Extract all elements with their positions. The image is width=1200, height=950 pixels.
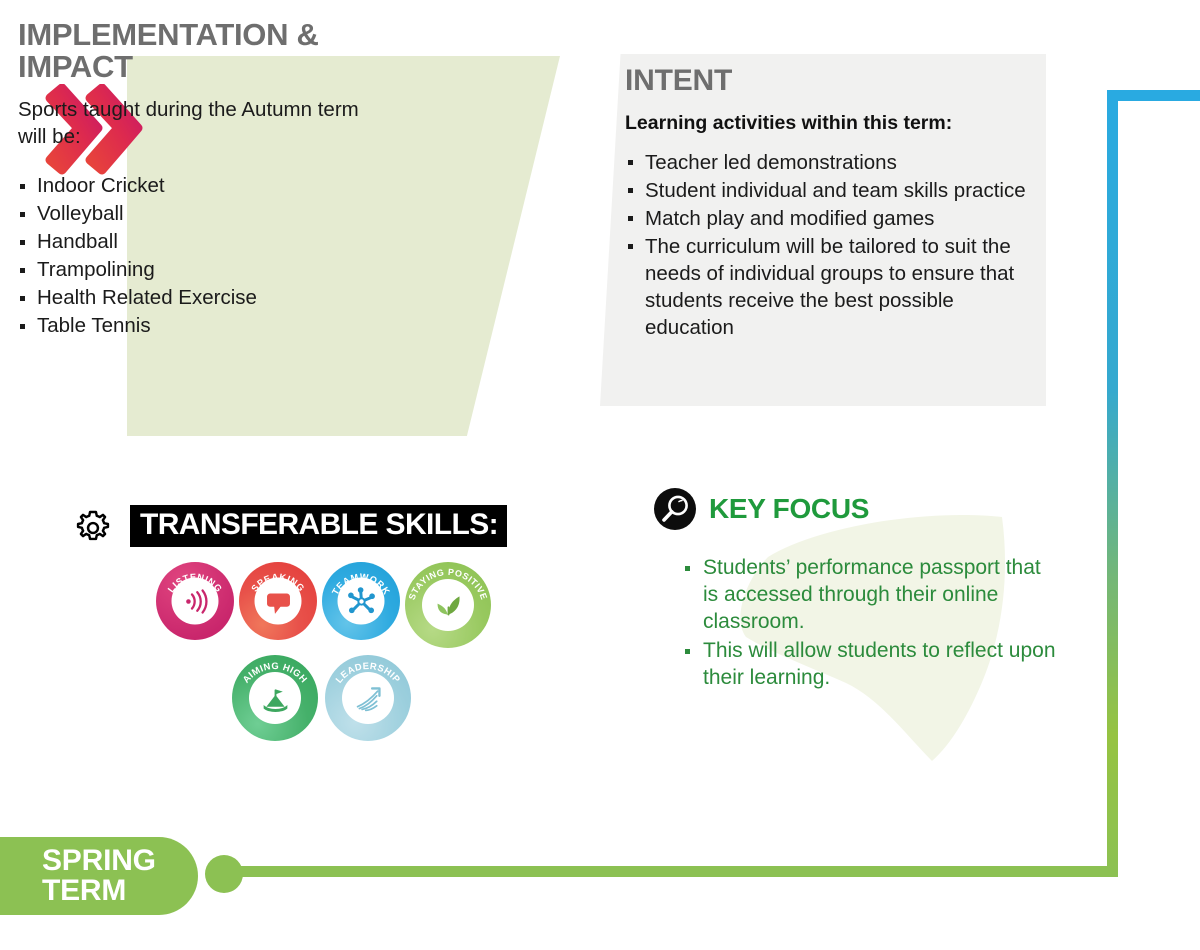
- top-horizontal-line: [1107, 90, 1200, 101]
- list-item: Teacher led demonstrations: [625, 149, 1035, 176]
- list-item: Students’ performance passport that is a…: [682, 555, 1057, 636]
- arrow-burst-icon: [342, 672, 394, 724]
- list-item: Trampolining: [18, 256, 368, 284]
- key-focus-list: Students’ performance passport that is a…: [682, 555, 1057, 693]
- intent-content: INTENT Learning activities within this t…: [625, 64, 1035, 342]
- implementation-sports-list: Indoor Cricket Volleyball Handball Tramp…: [18, 172, 368, 339]
- term-label: SPRING TERM: [0, 846, 156, 906]
- list-item: Indoor Cricket: [18, 172, 368, 200]
- list-item: Volleyball: [18, 200, 368, 228]
- list-item: This will allow students to reflect upon…: [682, 638, 1057, 692]
- skill-badges: LISTENING: [156, 562, 556, 741]
- transferable-skills-header: TRANSFERABLE SKILLS:: [74, 505, 544, 551]
- magnifier-icon: [653, 487, 697, 531]
- intent-title: INTENT: [625, 64, 1035, 98]
- badge-aiming-high[interactable]: AIMING HIGH: [232, 655, 318, 741]
- term-line-2: TERM: [42, 876, 156, 906]
- leaf-sprout-icon: [422, 579, 474, 631]
- list-item: Handball: [18, 228, 368, 256]
- transferable-skills-section: TRANSFERABLE SKILLS: LISTENING: [74, 505, 544, 551]
- gear-icon: [74, 509, 112, 547]
- term-connector-dot: [205, 855, 243, 893]
- term-line-1: SPRING: [42, 844, 156, 877]
- intent-subtitle: Learning activities within this term:: [625, 112, 1035, 135]
- list-item: Match play and modified games: [625, 205, 1035, 232]
- speech-bubble-icon: [255, 578, 302, 625]
- key-focus-header: KEY FOCUS: [653, 487, 869, 531]
- badge-teamwork[interactable]: TEAMWORK: [322, 562, 400, 640]
- list-item: Health Related Exercise: [18, 284, 368, 312]
- bottom-horizontal-line: [222, 866, 1118, 877]
- key-focus-section: KEY FOCUS Students’ performance passport…: [650, 487, 1070, 777]
- implementation-content: IMPLEMENTATION & IMPACT Sports taught du…: [18, 19, 368, 340]
- list-item: Table Tennis: [18, 312, 368, 340]
- list-item: Student individual and team skills pract…: [625, 177, 1035, 204]
- badge-speaking[interactable]: SPEAKING: [239, 562, 317, 640]
- term-tab[interactable]: SPRING TERM: [0, 837, 198, 915]
- list-item: The curriculum will be tailored to suit …: [625, 233, 1035, 341]
- badge-leadership[interactable]: LEADERSHIP: [325, 655, 411, 741]
- skill-badges-row-2: AIMING HIGH: [156, 655, 556, 741]
- mountain-flag-icon: [249, 672, 301, 724]
- skill-badges-row-1: LISTENING: [156, 562, 556, 648]
- badge-listening[interactable]: LISTENING: [156, 562, 234, 640]
- transferable-skills-heading: TRANSFERABLE SKILLS:: [130, 505, 507, 547]
- badge-staying-positive[interactable]: STAYING POSITIVE: [405, 562, 491, 648]
- intent-activities-list: Teacher led demonstrations Student indiv…: [625, 149, 1035, 341]
- team-hub-icon: [338, 578, 385, 625]
- vertical-gradient-line: [1107, 90, 1118, 877]
- sound-waves-icon: [172, 578, 219, 625]
- infographic-canvas: IMPLEMENTATION & IMPACT Sports taught du…: [0, 0, 1200, 950]
- key-focus-title: KEY FOCUS: [709, 495, 869, 523]
- implementation-title: IMPLEMENTATION & IMPACT: [18, 19, 363, 82]
- implementation-lead: Sports taught during the Autumn term wil…: [18, 96, 363, 150]
